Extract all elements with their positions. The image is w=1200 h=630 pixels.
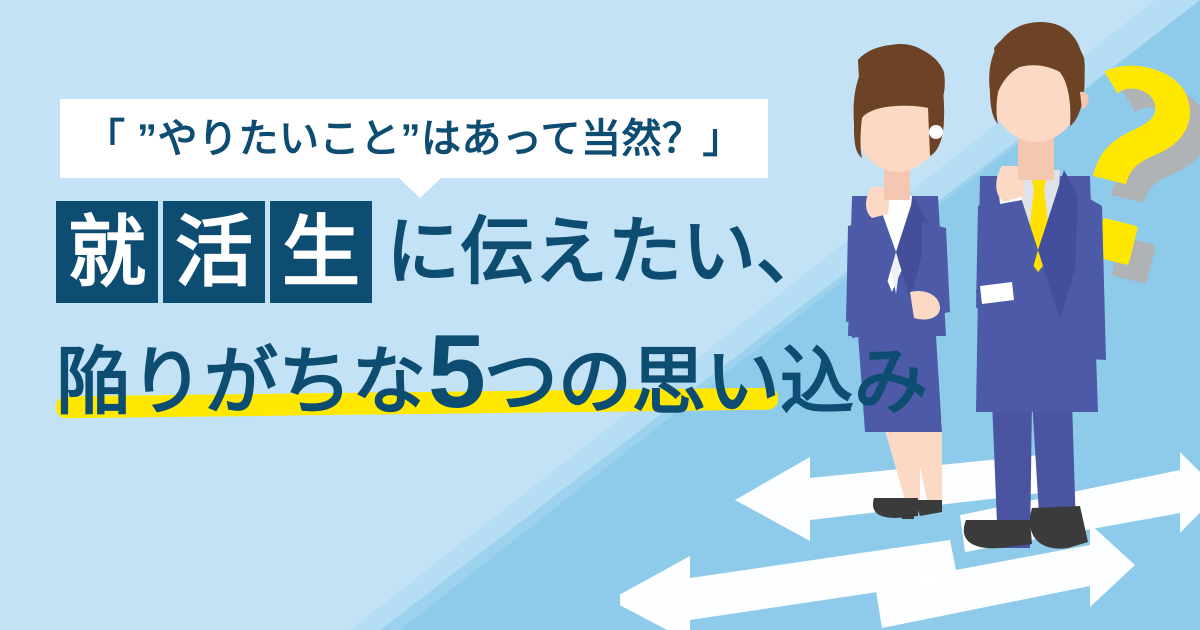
woman-figure xyxy=(846,44,950,519)
headline-count-number: 5 xyxy=(428,332,486,413)
headline: 就 活 生 に伝えたい、 陥りがちな 5 つの思い込み xyxy=(56,196,816,424)
kanji-box-3: 生 xyxy=(270,201,372,303)
kanji-box-1: 就 xyxy=(56,201,158,303)
headline-line-2-prefix: 陥りがちな xyxy=(56,345,426,419)
headline-line-2-suffix: つの思い込み xyxy=(484,345,928,419)
kanji-box-2: 活 xyxy=(163,201,265,303)
poster-canvas: 「 ”やりたいこと”はあって当然？」 就 活 生 に伝えたい、 陥りがちな 5 … xyxy=(0,0,1200,630)
speech-bubble: 「 ”やりたいこと”はあって当然？」 xyxy=(60,99,768,178)
headline-line-1: 就 活 生 に伝えたい、 xyxy=(56,196,816,308)
headline-line-1-tail: に伝えたい、 xyxy=(386,215,830,289)
headline-line-2: 陥りがちな 5 つの思い込み xyxy=(56,332,816,424)
speech-bubble-tail xyxy=(398,177,442,198)
speech-bubble-text: 「 ”やりたいこと”はあって当然？」 xyxy=(85,119,743,159)
